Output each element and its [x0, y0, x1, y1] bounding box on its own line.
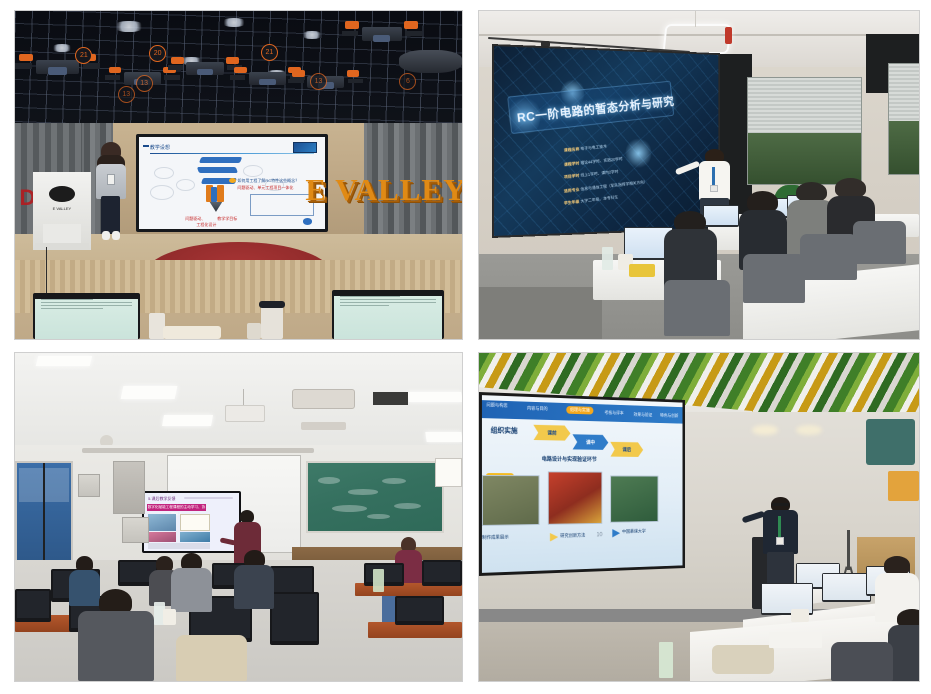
attendee — [888, 609, 919, 681]
slide-annotation-bottom: 问题驱动、 教学学目标 — [185, 216, 237, 222]
floor-shadow — [479, 287, 602, 339]
ceiling-vent — [373, 392, 409, 405]
highlight-dot — [229, 178, 236, 184]
bar-blue — [211, 187, 217, 202]
meta-label: 项目学时 — [564, 173, 580, 179]
slide-divider — [150, 153, 314, 155]
monitor[interactable] — [270, 592, 319, 644]
photo-bottom-right[interactable]: 问题与构思 内容与目的 组理与实施 考核与评本 效果与验证 特色与创新 组织实施… — [478, 352, 920, 682]
student — [234, 550, 274, 609]
water-bottle — [659, 642, 672, 678]
slide-surface: 问题与构思 内容与目的 组理与实施 考核与评本 效果与验证 特色与创新 组织实施… — [482, 395, 682, 572]
projector-unit — [399, 50, 462, 73]
nav-item[interactable]: 特色与创新 — [660, 414, 678, 420]
electrical-cabinet — [113, 461, 144, 513]
light-suspension — [695, 11, 697, 27]
coffee-cup — [261, 306, 283, 339]
sketch-shape — [154, 167, 174, 180]
monitor[interactable] — [395, 596, 444, 626]
slide-photo-group — [148, 532, 176, 542]
slide-thumb-center — [548, 472, 603, 525]
bar-orange — [217, 185, 224, 202]
slide-section-title: 组织实施 — [491, 426, 518, 437]
laptop-screen — [334, 296, 442, 339]
paper-stack — [163, 326, 221, 339]
podium: E VALLEY — [33, 172, 91, 251]
slide-banner: 数字化赋能工程课程的主动学习、协同育人 — [147, 504, 205, 512]
paper-stack — [769, 632, 822, 648]
window-main — [747, 77, 861, 185]
audience-laptop[interactable] — [822, 573, 870, 603]
wall-light — [796, 425, 822, 435]
stage-arrow-after: 课后 — [610, 442, 643, 457]
stage-display[interactable]: 教学设想 如何用工程了 — [136, 134, 328, 232]
student — [171, 553, 211, 612]
sprinkler-pipe — [725, 27, 732, 43]
window-blind[interactable] — [889, 64, 919, 121]
slide-annotation-bottom2: 工程化设计 — [196, 222, 216, 228]
institution-logo — [293, 142, 317, 153]
slide-photo-building — [148, 514, 176, 531]
photo-bottom-left[interactable]: 5.课后教学反馈 数字化赋能工程课程的主动学习、协同育人 — [14, 352, 463, 682]
slide-thumb-left — [482, 475, 540, 526]
window-blind[interactable] — [748, 78, 860, 133]
podium-emblem — [49, 186, 75, 202]
glow-accent — [625, 137, 651, 169]
tote-bag — [712, 645, 774, 675]
drone-tag: 13 — [136, 75, 153, 92]
small-cup — [247, 323, 260, 339]
snack-plate — [629, 264, 655, 277]
slide-subtitle: 电路设计与实现验证环节 — [542, 455, 597, 463]
wall-panel — [122, 517, 149, 543]
circuit-background — [494, 46, 718, 235]
chalkboard — [306, 461, 445, 533]
drone — [176, 54, 234, 84]
judge-laptop-left[interactable] — [33, 293, 140, 339]
slide-annotation-right: 如何用工程了解RC特性这些概念？ — [237, 178, 299, 184]
window-glass — [889, 121, 919, 174]
slide-annotation-sub: 问题驱动、单元工程项目一体化 — [237, 185, 293, 191]
slide-thumb-right — [610, 476, 658, 523]
ceiling-light-panel — [407, 392, 462, 402]
circuit-diagram — [250, 194, 313, 216]
slide-surface: 教学设想 如何用工程了 — [139, 137, 325, 229]
ceiling-light-panel — [161, 415, 212, 426]
meta-label: 课程名称 — [564, 147, 580, 153]
office-chair[interactable] — [853, 221, 906, 264]
judge-laptop-right[interactable] — [332, 290, 444, 339]
meta-label: 课程学时 — [564, 160, 580, 166]
paper-cup — [163, 609, 176, 625]
stage-arrow-during: 课中 — [572, 435, 608, 451]
wall-sign — [888, 471, 919, 501]
presenter-male — [761, 497, 801, 589]
water-bottle — [602, 247, 613, 270]
monitor[interactable] — [364, 563, 404, 586]
paper-cup — [791, 609, 809, 622]
nav-item[interactable]: 问题与构思 — [486, 403, 507, 410]
ceiling-duct — [301, 422, 346, 430]
photo-collage: 21 20 21 13 13 13 6 教学设想 — [0, 0, 931, 694]
ceiling-light-panel — [36, 356, 92, 366]
wall-notice — [435, 458, 462, 488]
ceiling-light-panel — [426, 432, 462, 442]
sketch-shape — [176, 179, 195, 191]
window-glass — [748, 133, 860, 184]
funnel-shape — [209, 202, 222, 212]
drone-tag: 21 — [261, 44, 278, 61]
wall-panel — [78, 474, 100, 497]
play-triangle-icon — [550, 533, 558, 542]
slide-page-dot — [303, 218, 312, 224]
play-triangle-icon — [612, 529, 620, 538]
photo-top-right[interactable]: RC一阶电路的暂态分析与研究 课程名称 电子与电工技术 课程学时 理论44学时、… — [478, 10, 920, 340]
monitor[interactable] — [270, 566, 315, 596]
drone — [350, 18, 413, 51]
ribbon-band — [197, 167, 238, 173]
slide-header-marker — [143, 145, 149, 147]
office-chair[interactable] — [743, 254, 805, 303]
water-bottle — [373, 569, 384, 592]
nav-item[interactable]: 效果与验证 — [634, 412, 653, 418]
office-chair[interactable] — [664, 280, 730, 336]
office-chair[interactable] — [800, 234, 857, 280]
laptop-screen — [35, 299, 138, 339]
slide-photo-students — [180, 532, 210, 542]
ceiling-light — [113, 21, 144, 32]
monitor[interactable] — [422, 560, 462, 586]
ribbon-band — [199, 157, 243, 163]
slide-footnote — [148, 543, 210, 549]
podium-label: E VALLEY — [39, 206, 85, 211]
progress-bar — [184, 497, 233, 499]
slide-certificate — [180, 514, 210, 531]
chair-back[interactable] — [831, 642, 893, 681]
monitor[interactable] — [15, 589, 51, 622]
wall-light — [752, 425, 778, 435]
slide-page-number: 10 — [597, 533, 603, 539]
slide-caption-center: 研究创新方法 — [560, 533, 585, 539]
sketch-shape — [243, 165, 263, 177]
nav-item-active[interactable]: 组理与实施 — [566, 406, 593, 415]
nav-item[interactable]: 考核与评本 — [604, 410, 623, 416]
slide-header: 教学设想 — [150, 144, 170, 151]
ceiling-light-panel — [121, 386, 177, 399]
ceiling-projector — [225, 405, 265, 421]
slide-caption-right: 中国慕课大学 — [622, 529, 646, 535]
slide-caption-left: 制作成果展示 — [482, 535, 509, 542]
wall-panel-teal — [866, 419, 914, 465]
window-side — [888, 63, 919, 175]
ac-vent — [292, 389, 355, 409]
photo-top-left[interactable]: 21 20 21 13 13 13 6 教学设想 — [14, 10, 463, 340]
projection-screen[interactable]: 问题与构思 内容与目的 组理与实施 考核与评本 效果与验证 特色与创新 组织实施… — [479, 392, 685, 576]
slide-header: 5.课后教学反馈 — [148, 496, 175, 502]
screen-roller-housing — [82, 448, 314, 453]
projection-screen[interactable]: RC一阶电路的暂态分析与研究 课程名称 电子与电工技术 课程学时 理论44学时、… — [492, 44, 720, 238]
venue-sign: E VALLEY — [305, 172, 462, 208]
mic-cable — [46, 247, 47, 299]
nav-item[interactable]: 内容与目的 — [527, 406, 548, 413]
glasses-icon — [772, 503, 789, 507]
folded-garment — [176, 635, 248, 681]
sketch-shape — [150, 185, 174, 200]
stage-arrow-before: 课前 — [533, 425, 570, 441]
student-foreground — [78, 589, 154, 681]
presenter-female — [95, 142, 126, 240]
meta-label: 适用专业 — [564, 187, 580, 194]
